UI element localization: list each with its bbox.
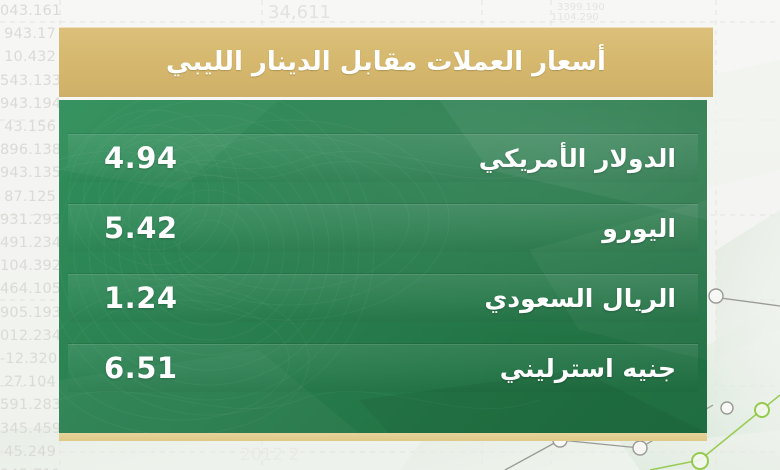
currency-name: الريال السعودي [484,284,676,313]
ticker-value: 491.234 [0,232,58,255]
ticker-value: 931.293 [0,209,58,232]
ticker-value: 43.156 [0,116,58,139]
ticker-value: 043.161 [0,0,58,23]
ticker-value: 104.392 [0,255,58,278]
rate-value: 5.42 [104,211,178,245]
infographic-canvas: 043.161943.1710.432543.133943.19443.1568… [0,0,780,470]
list-item[interactable]: 4.94 الدولار الأمريكي [68,134,698,182]
list-item[interactable]: 1.24 الريال السعودي [68,274,698,322]
ticker-value: 27.104 [0,371,58,394]
currency-name: اليورو [602,214,676,243]
background-label-top-right-2: 1104.290 [551,12,599,23]
list-item[interactable]: 5.42 اليورو [68,204,698,252]
currency-name: الدولار الأمريكي [479,144,676,173]
ticker-value: 345.459 [0,418,58,441]
ticker-value: 943.194 [0,93,58,116]
ticker-value: 464.105 [0,278,58,301]
ticker-value: 943.135 [0,162,58,185]
rates-panel: 4.94 الدولار الأمريكي 5.42 اليورو 1.24 ا… [59,100,707,433]
ticker-value: 45.249 [0,441,58,464]
rates-list: 4.94 الدولار الأمريكي 5.42 اليورو 1.24 ا… [59,100,707,433]
ticker-value: 012.234 [0,325,58,348]
ticker-value: 943.17 [0,23,58,46]
ticker-value: 543.133 [0,70,58,93]
ticker-value: 87.125 [0,186,58,209]
ticker-value: 345.711 [0,464,58,470]
ticker-value: 896.138 [0,139,58,162]
page-title: أسعار العملات مقابل الدينار الليبي [166,47,606,77]
rate-value: 6.51 [104,351,178,385]
ticker-value: 905.193 [0,302,58,325]
panel-bottom-bar [59,433,707,441]
ticker-value: 10.432 [0,46,58,69]
background-label-bottom: 2012 2 [240,445,299,465]
ticker-value: 591.283 [0,394,58,417]
rate-value: 1.24 [104,281,178,315]
ticker-value: -12.320 [0,348,58,371]
currency-name: جنيه استرليني [500,354,676,383]
list-item[interactable]: 6.51 جنيه استرليني [68,344,698,392]
background-ticker-left: 043.161943.1710.432543.133943.19443.1568… [0,0,58,470]
rate-value: 4.94 [104,141,178,175]
background-label-top-center: 34,611 [268,2,331,23]
title-bar: أسعار العملات مقابل الدينار الليبي [59,27,713,97]
